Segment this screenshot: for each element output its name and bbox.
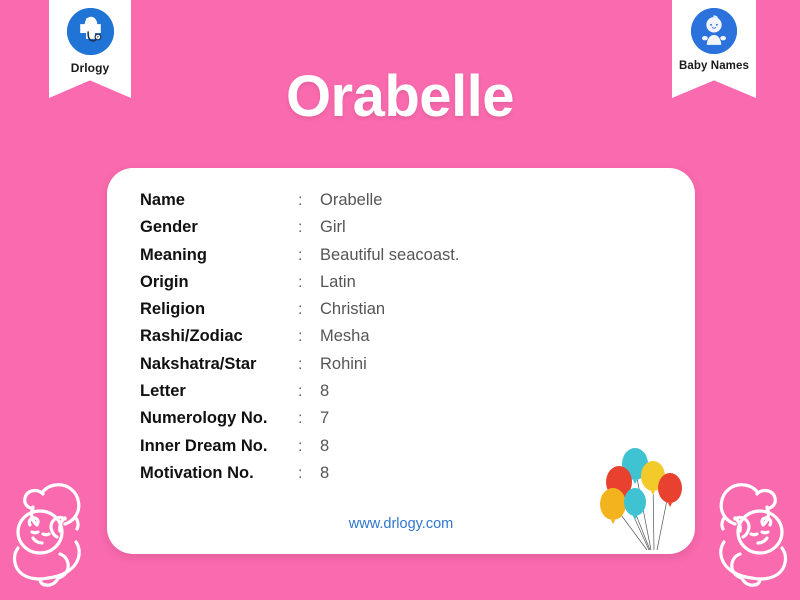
row-label: Gender xyxy=(140,218,298,237)
row-value: Latin xyxy=(320,273,356,292)
row-separator: : xyxy=(298,301,320,319)
row-label: Letter xyxy=(140,382,298,401)
page-title: Orabelle xyxy=(0,63,800,130)
table-row: Religion : Christian xyxy=(140,300,459,327)
row-label: Nakshatra/Star xyxy=(140,355,298,374)
row-value: Rohini xyxy=(320,355,367,374)
row-separator: : xyxy=(298,328,320,346)
row-separator: : xyxy=(298,192,320,210)
table-row: Numerology No. : 7 xyxy=(140,409,459,436)
mother-baby-icon xyxy=(2,470,106,598)
row-separator: : xyxy=(298,219,320,237)
table-row: Letter : 8 xyxy=(140,382,459,409)
row-value: 7 xyxy=(320,409,329,428)
table-row: Motivation No. : 8 xyxy=(140,464,459,491)
row-separator: : xyxy=(298,356,320,374)
details-table: Name : Orabelle Gender : Girl Meaning : … xyxy=(140,191,459,491)
table-row: Meaning : Beautiful seacoast. xyxy=(140,246,459,273)
doctor-stethoscope-icon: P xyxy=(67,8,114,55)
row-value: Christian xyxy=(320,300,385,319)
row-label: Meaning xyxy=(140,246,298,265)
table-row: Gender : Girl xyxy=(140,218,459,245)
row-label: Inner Dream No. xyxy=(140,437,298,456)
row-label: Name xyxy=(140,191,298,210)
row-label: Motivation No. xyxy=(140,464,298,483)
row-label: Origin xyxy=(140,273,298,292)
row-value: Girl xyxy=(320,218,346,237)
row-value: 8 xyxy=(320,464,329,483)
row-value: Mesha xyxy=(320,327,370,346)
row-separator: : xyxy=(298,247,320,265)
table-row: Origin : Latin xyxy=(140,273,459,300)
row-separator: : xyxy=(298,438,320,456)
row-separator: : xyxy=(298,274,320,292)
mother-baby-icon xyxy=(694,470,798,598)
row-value: Beautiful seacoast. xyxy=(320,246,459,265)
name-details-card: Name : Orabelle Gender : Girl Meaning : … xyxy=(107,168,695,554)
row-value: 8 xyxy=(320,437,329,456)
row-separator: : xyxy=(298,410,320,428)
row-label: Religion xyxy=(140,300,298,319)
table-row: Nakshatra/Star : Rohini xyxy=(140,355,459,382)
balloons-icon xyxy=(597,442,689,554)
table-row: Inner Dream No. : 8 xyxy=(140,437,459,464)
table-row: Name : Orabelle xyxy=(140,191,459,218)
row-label: Rashi/Zodiac xyxy=(140,327,298,346)
row-separator: : xyxy=(298,465,320,483)
row-value: 8 xyxy=(320,382,329,401)
row-separator: : xyxy=(298,383,320,401)
site-url[interactable]: www.drlogy.com xyxy=(107,516,695,532)
poster-canvas: P Drlogy Baby Names Orabelle xyxy=(0,0,800,600)
baby-icon xyxy=(691,8,737,54)
row-label: Numerology No. xyxy=(140,409,298,428)
table-row: Rashi/Zodiac : Mesha xyxy=(140,327,459,354)
row-value: Orabelle xyxy=(320,191,382,210)
